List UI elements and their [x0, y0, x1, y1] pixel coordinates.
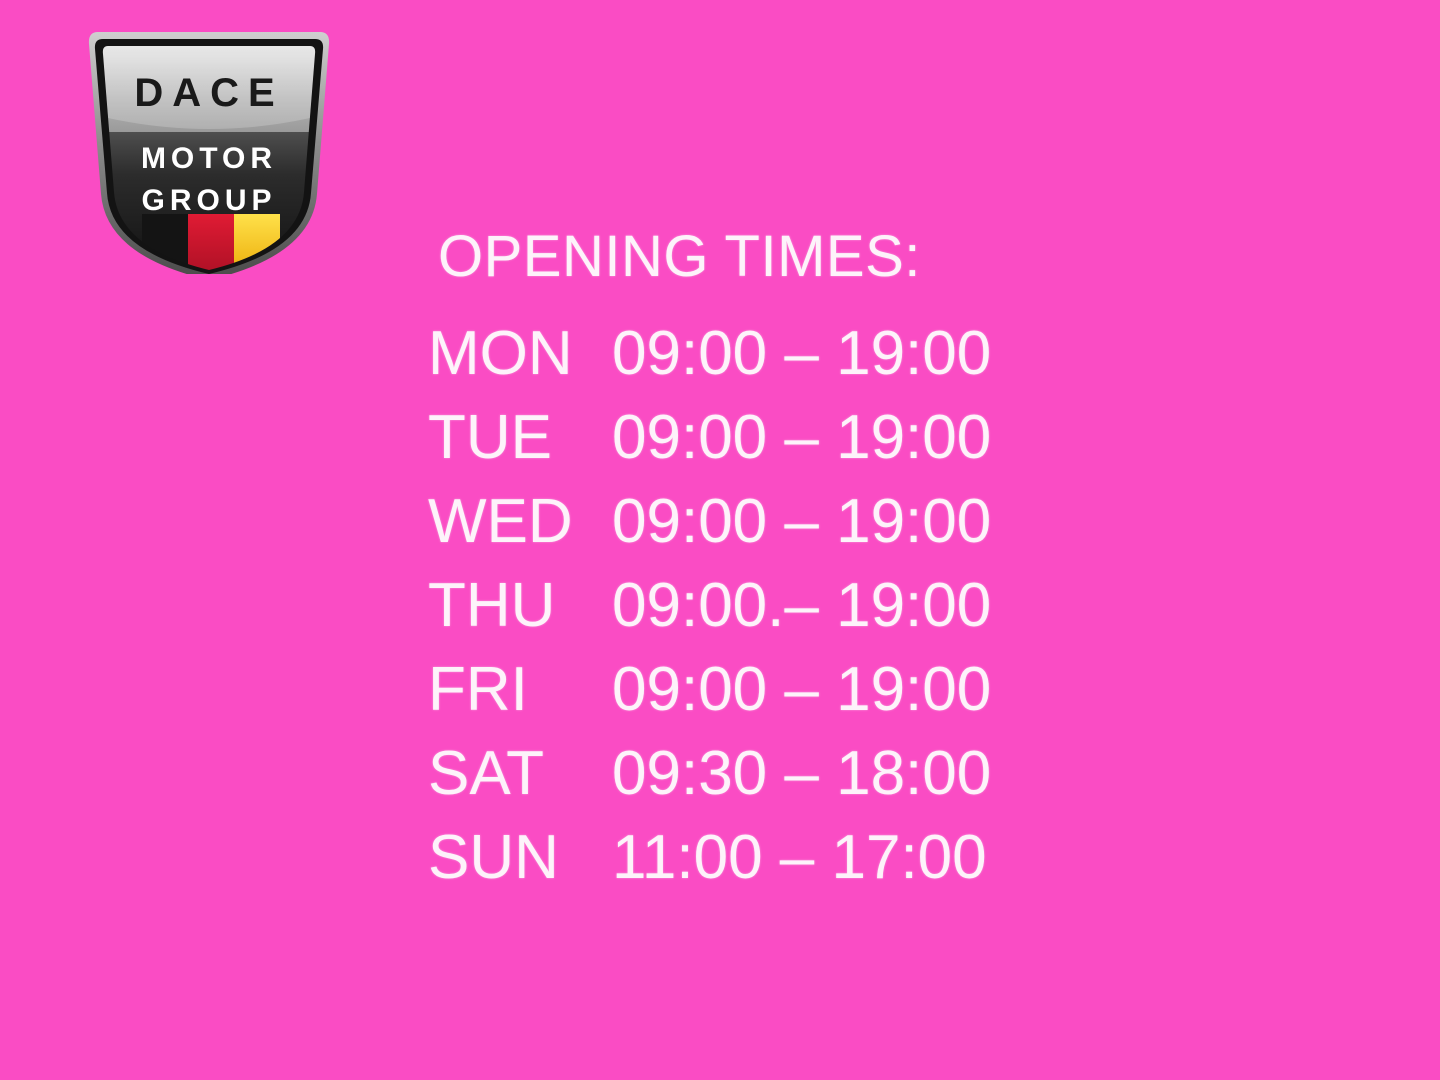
hours-value: 09:00 – 19:00 [612, 480, 991, 564]
day-label: SAT [428, 732, 612, 816]
day-label: WED [428, 480, 612, 564]
day-label: THU [428, 564, 612, 648]
table-row: TUE 09:00 – 19:00 [0, 396, 1440, 480]
logo-text-group: GROUP [141, 184, 276, 217]
day-label: FRI [428, 648, 612, 732]
opening-times-rows: MON 09:00 – 19:00 TUE 09:00 – 19:00 WED … [0, 312, 1440, 900]
hours-value: 11:00 – 17:00 [612, 816, 987, 900]
hours-value: 09:00.– 19:00 [612, 564, 991, 648]
table-row: MON 09:00 – 19:00 [0, 312, 1440, 396]
opening-times-block: OPENING TIMES: MON 09:00 – 19:00 TUE 09:… [0, 228, 1440, 900]
hours-value: 09:30 – 18:00 [612, 732, 991, 816]
table-row: SUN 11:00 – 17:00 [0, 816, 1440, 900]
logo-text-dace: DACE [134, 71, 283, 115]
opening-times-title: OPENING TIMES: [0, 228, 1440, 286]
table-row: SAT 09:30 – 18:00 [0, 732, 1440, 816]
day-label: TUE [428, 396, 612, 480]
day-label: MON [428, 312, 612, 396]
hours-value: 09:00 – 19:00 [612, 396, 991, 480]
table-row: THU 09:00.– 19:00 [0, 564, 1440, 648]
hours-value: 09:00 – 19:00 [612, 312, 991, 396]
day-label: SUN [428, 816, 612, 900]
table-row: FRI 09:00 – 19:00 [0, 648, 1440, 732]
opening-times-poster: DACE MOTOR GROUP OPENING TIMES: MON 09:0… [0, 0, 1440, 1080]
hours-value: 09:00 – 19:00 [612, 648, 991, 732]
logo-text-motor: MOTOR [141, 142, 277, 175]
table-row: WED 09:00 – 19:00 [0, 480, 1440, 564]
